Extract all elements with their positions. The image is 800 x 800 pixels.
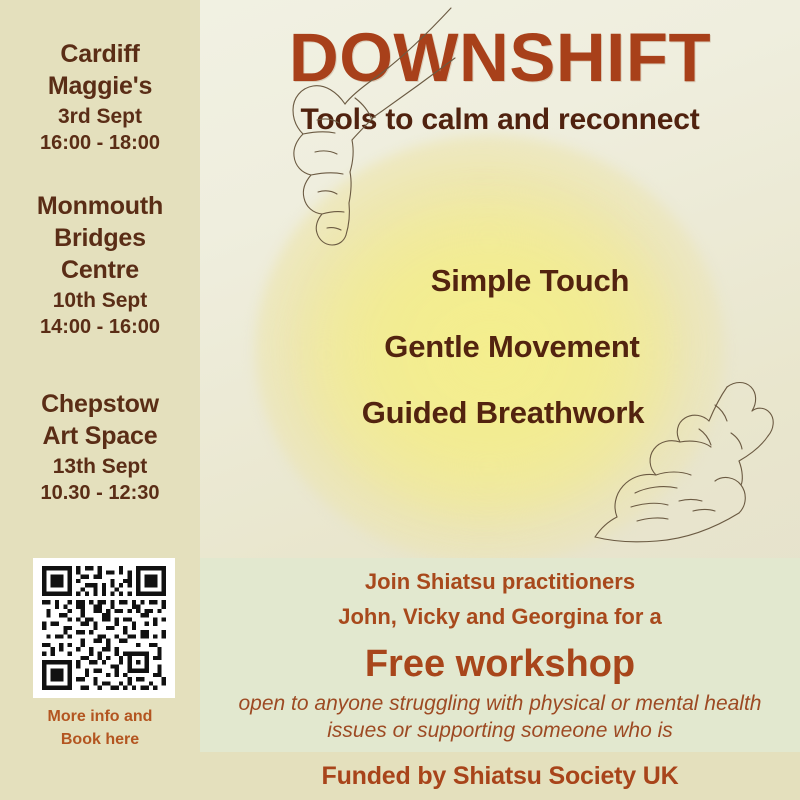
join-line: Join Shiatsu practitioners xyxy=(200,569,800,595)
venue-time: 10.30 - 12:30 xyxy=(0,480,200,506)
free-workshop-heading: Free workshop xyxy=(200,643,800,686)
qr-caption-line-1: More info and xyxy=(0,705,200,728)
venue-date: 13th Sept xyxy=(0,453,200,480)
page-title: DOWNSHIFT xyxy=(200,18,800,97)
modality-list: Simple Touch Gentle Movement Guided Brea… xyxy=(200,265,800,463)
funding-band: Funded by Shiatsu Society UK xyxy=(200,752,800,800)
venue-name-line-2: Maggie's xyxy=(0,70,200,102)
eligibility-line-2: issues or supporting someone who is xyxy=(200,719,800,743)
page-subtitle: Tools to calm and reconnect xyxy=(200,103,800,137)
qr-code-icon[interactable] xyxy=(33,558,175,698)
venue-name-line-1: Chepstow xyxy=(0,388,200,420)
footer-panel: Join Shiatsu practitioners John, Vicky a… xyxy=(200,558,800,752)
venue-block-monmouth: Monmouth Bridges Centre 10th Sept 14:00 … xyxy=(0,190,200,340)
venue-block-cardiff: Cardiff Maggie's 3rd Sept 16:00 - 18:00 xyxy=(0,38,200,156)
venue-date: 10th Sept xyxy=(0,287,200,314)
eligibility-line-1: open to anyone struggling with physical … xyxy=(200,692,800,716)
venue-name-line-2: Art Space xyxy=(0,420,200,452)
venue-time: 16:00 - 18:00 xyxy=(0,130,200,156)
venue-date: 3rd Sept xyxy=(0,103,200,130)
funded-by-text: Funded by Shiatsu Society UK xyxy=(322,762,679,791)
venue-time: 14:00 - 16:00 xyxy=(0,314,200,340)
modality-item: Simple Touch xyxy=(200,265,800,296)
qr-caption-line-2: Book here xyxy=(0,728,200,751)
venue-name-line-1: Cardiff xyxy=(0,38,200,70)
venue-sidebar: Cardiff Maggie's 3rd Sept 16:00 - 18:00 … xyxy=(0,0,200,800)
qr-caption: More info and Book here xyxy=(0,705,200,751)
modality-item: Guided Breathwork xyxy=(200,397,800,428)
venue-block-chepstow: Chepstow Art Space 13th Sept 10.30 - 12:… xyxy=(0,388,200,506)
names-line: John, Vicky and Georgina for a xyxy=(200,604,800,630)
venue-name-line-3: Centre xyxy=(0,254,200,286)
poster-root: Cardiff Maggie's 3rd Sept 16:00 - 18:00 … xyxy=(0,0,800,800)
modality-item: Gentle Movement xyxy=(200,331,800,362)
venue-name-line-2: Bridges xyxy=(0,222,200,254)
venue-name-line-1: Monmouth xyxy=(0,190,200,222)
